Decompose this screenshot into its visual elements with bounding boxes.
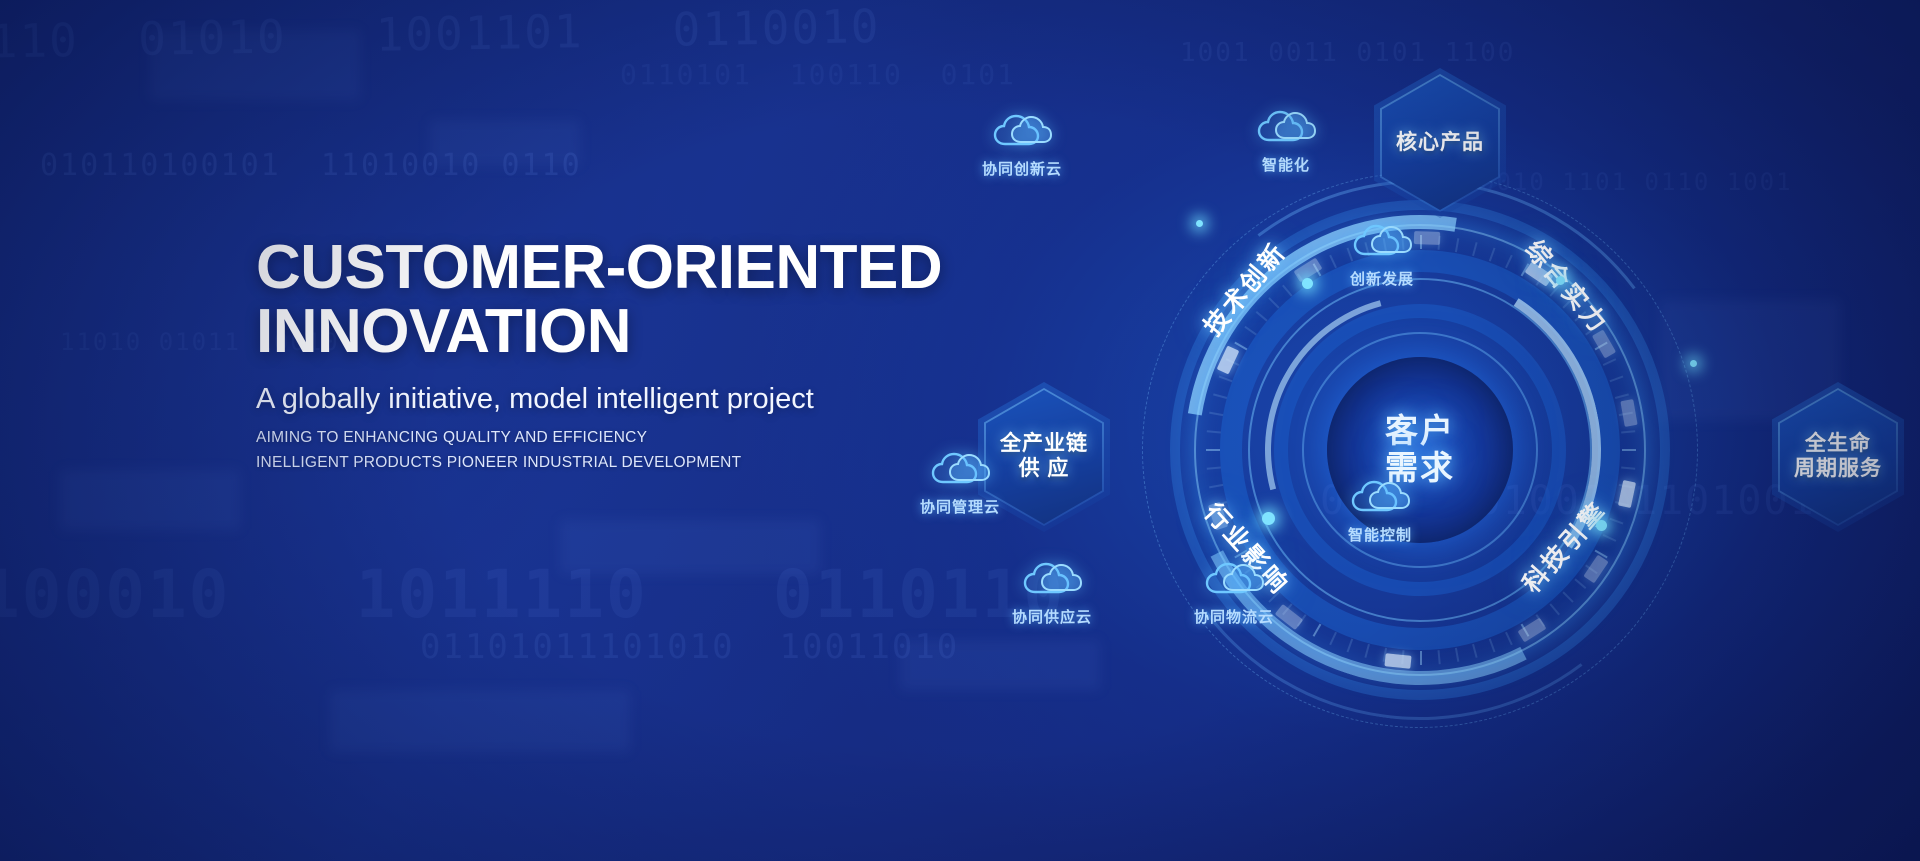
tagline: A globally initiative, model intelligent… bbox=[256, 383, 956, 416]
hexagon-label: 全生命 周期服务 bbox=[1794, 432, 1882, 482]
cloud-icon bbox=[1021, 560, 1083, 600]
binary-row: 0110 01010 1001101 0110010 bbox=[0, 2, 881, 66]
tech-hud-graphic: 客户 需求 技术创新 综合实力 行业影响 科技引擎 核心产品 全产业链 供 应 … bbox=[1000, 60, 1880, 840]
cloud-node-innovation-dev[interactable]: 创新发展 bbox=[1312, 222, 1452, 289]
cloud-node-smart-control[interactable]: 智能控制 bbox=[1310, 478, 1450, 545]
hero-copy: CUSTOMER-ORIENTED INNOVATION A globally … bbox=[256, 236, 956, 472]
ring-tick bbox=[1206, 449, 1220, 451]
ring-tick bbox=[1207, 430, 1221, 433]
ring-tick bbox=[1603, 358, 1617, 366]
ring-tick bbox=[1207, 467, 1221, 470]
ring-tick bbox=[1455, 648, 1459, 662]
hero-banner: 0110 01010 1001101 0110010 010110100101 … bbox=[0, 0, 1920, 861]
ring-tick bbox=[1603, 534, 1617, 542]
ring-tick bbox=[1455, 238, 1459, 252]
ring-tick bbox=[1313, 624, 1322, 637]
ring-tick bbox=[1562, 591, 1573, 602]
cloud-node-label: 智能化 bbox=[1216, 154, 1356, 175]
binary-row: 01101011101010 10011010 bbox=[420, 630, 959, 666]
cloud-node-label: 协同创新云 bbox=[952, 158, 1092, 179]
hud-center-label: 客户 需求 bbox=[1385, 413, 1455, 487]
ring-tick bbox=[1347, 639, 1354, 653]
cloud-icon bbox=[1203, 560, 1265, 600]
cloud-node-supply-cloud[interactable]: 协同供应云 bbox=[982, 560, 1122, 627]
ring-tick bbox=[1472, 242, 1478, 256]
cloud-node-label: 协同管理云 bbox=[890, 496, 1030, 517]
ring-tick bbox=[1622, 449, 1636, 451]
ring-tick bbox=[1610, 376, 1624, 383]
ring-tick bbox=[1256, 311, 1268, 322]
cloud-icon bbox=[991, 112, 1053, 152]
page-title: CUSTOMER-ORIENTED INNOVATION bbox=[256, 236, 956, 365]
ring-tick bbox=[1489, 639, 1496, 653]
cloud-node-innovation-cloud[interactable]: 协同创新云 bbox=[952, 112, 1092, 179]
ring-tick bbox=[1621, 430, 1635, 433]
cloud-icon bbox=[1351, 222, 1413, 262]
ring-tick bbox=[1420, 651, 1422, 665]
cloud-icon bbox=[929, 450, 991, 490]
binary-row: 100010 1011110 0110110 bbox=[0, 560, 1065, 629]
ring-tick bbox=[1549, 603, 1560, 615]
ring-tick bbox=[1574, 578, 1586, 589]
ring-tick bbox=[1282, 285, 1293, 297]
cloud-node-management-cloud[interactable]: 协同管理云 bbox=[890, 450, 1030, 517]
ring-tick bbox=[1209, 412, 1223, 416]
ring-tick bbox=[1329, 632, 1337, 646]
binary-row: 0110101 100110 0101 bbox=[620, 60, 1016, 89]
ring-tick bbox=[1209, 484, 1223, 488]
ring-tick bbox=[1505, 255, 1513, 269]
ring-tick bbox=[1213, 393, 1227, 399]
cloud-node-label: 智能控制 bbox=[1310, 524, 1450, 545]
cloud-node-label: 创新发展 bbox=[1312, 268, 1452, 289]
cloud-node-label: 协同物流云 bbox=[1164, 606, 1304, 627]
headline-line-2: INNOVATION bbox=[256, 300, 956, 364]
cloud-icon bbox=[1349, 478, 1411, 518]
hexagon-lifecycle-service[interactable]: 全生命 周期服务 bbox=[1772, 382, 1904, 532]
fineprint-line-2: INELLIGENT PRODUCTS PIONEER INDUSTRIAL D… bbox=[256, 454, 956, 472]
cloud-icon bbox=[1255, 108, 1317, 148]
ring-tick bbox=[1615, 393, 1629, 399]
ring-tick bbox=[1621, 467, 1635, 470]
cloud-node-intelligent[interactable]: 智能化 bbox=[1216, 108, 1356, 175]
ring-tick bbox=[1505, 632, 1513, 646]
ring-tick bbox=[1364, 644, 1370, 658]
ring-tick bbox=[1244, 326, 1257, 336]
ring-segment bbox=[1384, 653, 1411, 669]
cloud-node-label: 协同供应云 bbox=[982, 606, 1122, 627]
headline-line-1: CUSTOMER-ORIENTED bbox=[256, 236, 956, 300]
cloud-node-logistics-cloud[interactable]: 协同物流云 bbox=[1164, 560, 1304, 627]
hexagon-label: 核心产品 bbox=[1396, 131, 1484, 156]
fineprint-line-1: AIMING TO ENHANCING QUALITY AND EFFICIEN… bbox=[256, 429, 956, 447]
ring-tick bbox=[1489, 248, 1496, 262]
ring-tick bbox=[1438, 650, 1441, 664]
ring-tick bbox=[1472, 644, 1478, 658]
ring-tick bbox=[1268, 297, 1279, 308]
ring-tick bbox=[1219, 376, 1233, 383]
